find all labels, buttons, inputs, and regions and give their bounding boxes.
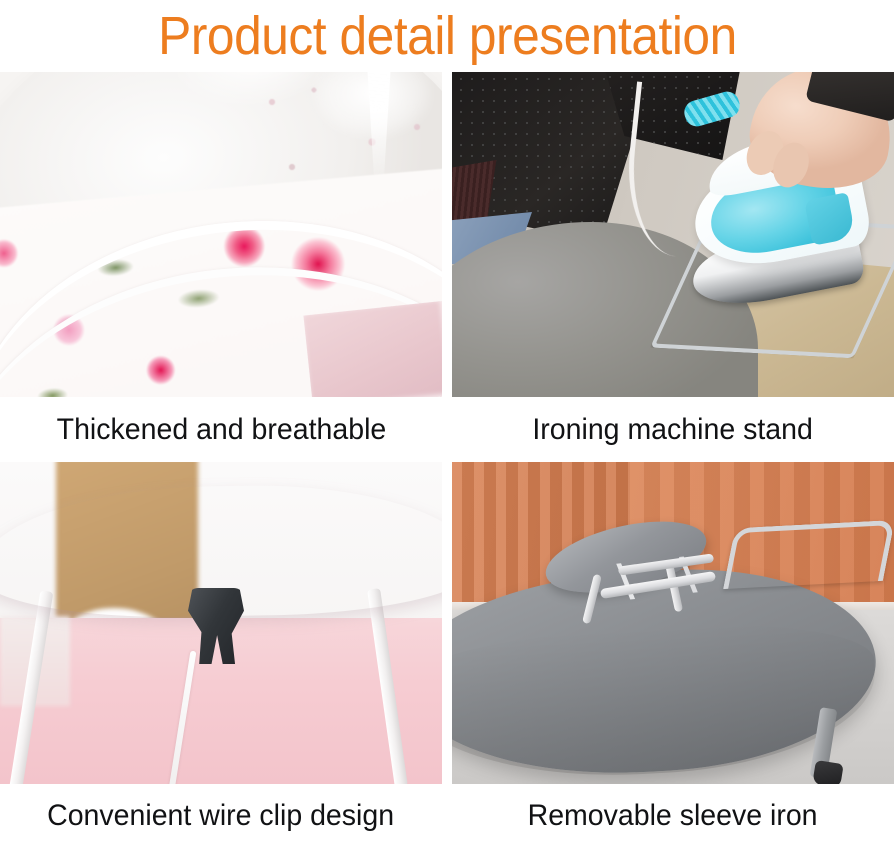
wire-iron-rest (723, 520, 894, 589)
page-title: Product detail presentation (158, 7, 737, 65)
panel-convenient-wire-clip-design: Convenient wire clip design (0, 462, 442, 850)
pink-surface-corner (303, 301, 442, 397)
board-foot-cap (812, 760, 843, 784)
panel-removable-sleeve-iron: Removable sleeve iron (452, 462, 894, 850)
photo-thickened-breathable (0, 72, 442, 397)
photo-removable-sleeve-iron (452, 462, 894, 784)
page-title-bar: Product detail presentation (0, 0, 894, 72)
caption-thickened-breathable: Thickened and breathable (0, 397, 442, 462)
caption-text: Ironing machine stand (533, 413, 813, 447)
panel-thickened-breathable: Thickened and breathable (0, 72, 442, 462)
caption-convenient-wire-clip-design: Convenient wire clip design (0, 784, 442, 848)
caption-text: Convenient wire clip design (48, 799, 395, 833)
panel-grid: Thickened and breathable (0, 72, 894, 850)
product-detail-presentation-page: Product detail presentation Thickened an… (0, 0, 894, 848)
caption-text: Removable sleeve iron (528, 799, 818, 833)
photo-ironing-machine-stand (452, 72, 894, 397)
panel-ironing-machine-stand: Ironing machine stand (452, 72, 894, 462)
photo-convenient-wire-clip-design (0, 462, 442, 784)
caption-removable-sleeve-iron: Removable sleeve iron (452, 784, 894, 848)
caption-ironing-machine-stand: Ironing machine stand (452, 397, 894, 462)
caption-text: Thickened and breathable (56, 413, 386, 447)
